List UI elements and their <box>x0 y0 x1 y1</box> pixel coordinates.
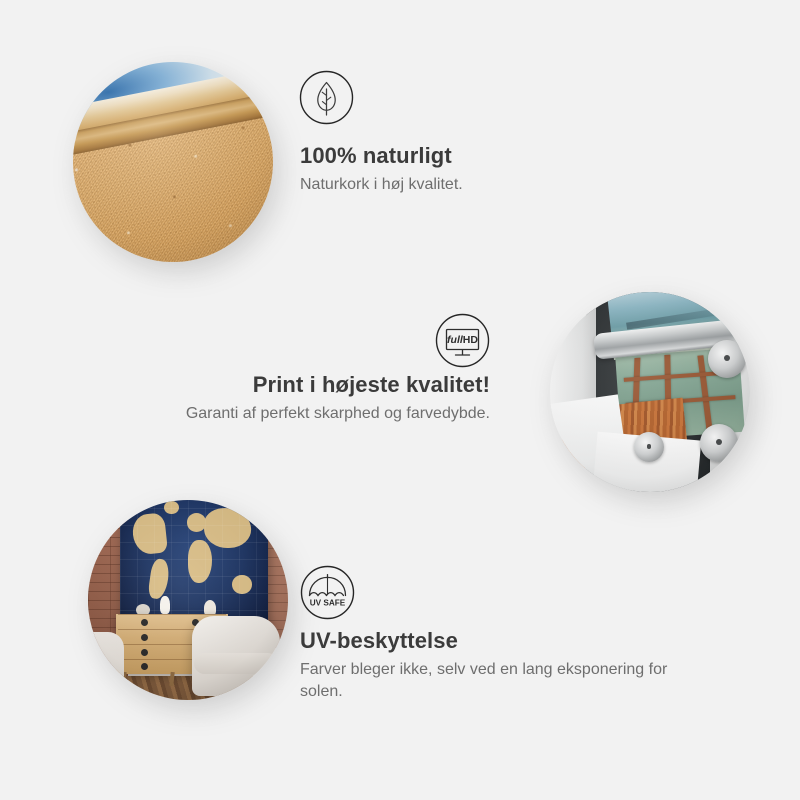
feature-title-uv: UV-beskyttelse <box>300 628 710 653</box>
uv-safe-label: UV SAFE <box>310 599 346 608</box>
photo-vignette <box>88 500 288 700</box>
photo-vignette <box>73 62 273 262</box>
cork-board-closeup-photo <box>73 62 273 262</box>
living-room-world-map-photo <box>88 500 288 700</box>
fullhd-monitor-icon: fullHD <box>435 313 490 368</box>
fullhd-label-italic: full <box>447 334 464 346</box>
fullhd-label-regular: HD <box>463 334 479 346</box>
svg-text:fullHD: fullHD <box>447 334 478 346</box>
feature-subtitle-print: Garanti af perfekt skarphed og farvedybd… <box>70 403 490 425</box>
feature-subtitle-uv: Farver bleger ikke, selv ved en lang eks… <box>300 659 710 702</box>
feature-title-natural: 100% naturligt <box>300 143 720 168</box>
feature-subtitle-natural: Naturkork i høj kvalitet. <box>300 174 720 196</box>
feature-text-print: Print i højeste kvalitet! Garanti af per… <box>70 372 490 425</box>
feature-text-natural: 100% naturligt Naturkork i høj kvalitet. <box>300 143 720 196</box>
feature-text-uv: UV-beskyttelse Farver bleger ikke, selv … <box>300 628 710 702</box>
feature-title-print: Print i højeste kvalitet! <box>70 372 490 397</box>
leaf-icon <box>299 70 354 125</box>
large-format-printer-photo <box>550 292 750 492</box>
uv-safe-umbrella-icon: UV SAFE <box>300 565 355 620</box>
photo-vignette <box>550 292 750 492</box>
feature-highlights-page: 100% naturligt Naturkork i høj kvalitet.… <box>0 0 800 800</box>
